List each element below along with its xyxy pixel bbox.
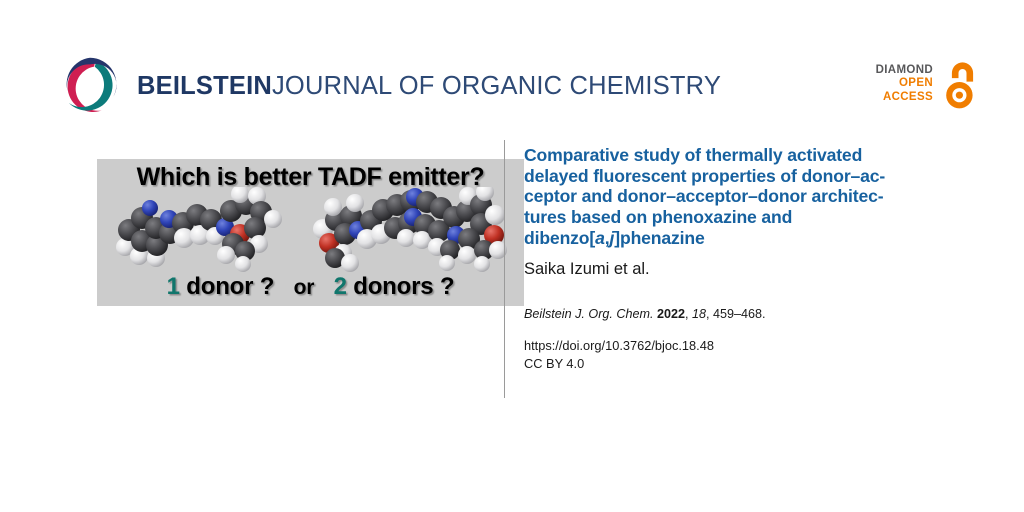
journal-brand[interactable]: BEILSTEINJOURNAL OF ORGANIC CHEMISTRY [57, 54, 721, 118]
journal-wordmark: BEILSTEINJOURNAL OF ORGANIC CHEMISTRY [137, 72, 721, 100]
article-doi-link[interactable]: https://doi.org/10.3762/bjoc.18.48 [524, 337, 976, 356]
donor-count-left: 1 [167, 273, 180, 300]
citation-comma-1: , [685, 307, 689, 321]
article-license[interactable]: CC BY 4.0 [524, 355, 976, 374]
article-citation: Beilstein J. Org. Chem. 2022, 18, 459–46… [524, 306, 976, 322]
diamond-open-access-badge[interactable]: DIAMOND OPEN ACCESS [876, 58, 982, 110]
donor-count-right: 2 [334, 273, 347, 300]
citation-comma-2: , [706, 307, 710, 321]
badge-line-access: ACCESS [876, 91, 933, 105]
citation-pages: 459–468. [713, 307, 766, 321]
article-card: Which is better TADF emitter? [0, 132, 1024, 512]
journal-wordmark-bold: BEILSTEIN [137, 72, 272, 100]
conjunction-or: or [294, 276, 315, 299]
column-divider [504, 140, 505, 398]
citation-year: 2022 [657, 307, 685, 321]
beilstein-circles-logo-icon [57, 54, 123, 118]
article-title[interactable]: Comparative study of thermally activated… [524, 145, 976, 248]
article-title-line-5-prefix: dibenzo[ [524, 228, 595, 248]
citation-volume: 18 [692, 307, 706, 321]
molecule-model-donor-acceptor-donor [309, 187, 514, 273]
article-title-line-4: tures based on phenoxazine and [524, 207, 792, 227]
molecule-model-donor-acceptor [109, 187, 309, 273]
locant-a: a [595, 228, 605, 248]
article-authors: Saika Izumi et al. [524, 260, 976, 280]
donor-label-right: donors ? [353, 273, 454, 300]
article-metadata: Comparative study of thermally activated… [524, 145, 976, 374]
article-title-line-1: Comparative study of thermally activated [524, 145, 862, 165]
donor-label-left: donor ? [186, 273, 274, 300]
open-access-badge-text: DIAMOND OPEN ACCESS [876, 64, 933, 105]
journal-wordmark-light: JOURNAL OF ORGANIC CHEMISTRY [272, 72, 721, 100]
badge-line-diamond: DIAMOND [876, 64, 933, 78]
citation-journal: Beilstein J. Org. Chem. [524, 307, 653, 321]
article-title-line-2: delayed fluorescent properties of donor–… [524, 166, 885, 186]
graphical-abstract-image[interactable]: Which is better TADF emitter? [97, 159, 524, 306]
article-title-line-5-suffix: ]phenazine [614, 228, 704, 248]
masthead: BEILSTEINJOURNAL OF ORGANIC CHEMISTRY DI… [0, 0, 1024, 132]
article-title-line-3: ceptor and donor–acceptor–donor architec… [524, 186, 883, 206]
badge-line-open: OPEN [876, 77, 933, 91]
open-padlock-icon [942, 58, 982, 110]
graphical-abstract-footer: 1 donor ? or 2 donors ? [97, 273, 524, 301]
